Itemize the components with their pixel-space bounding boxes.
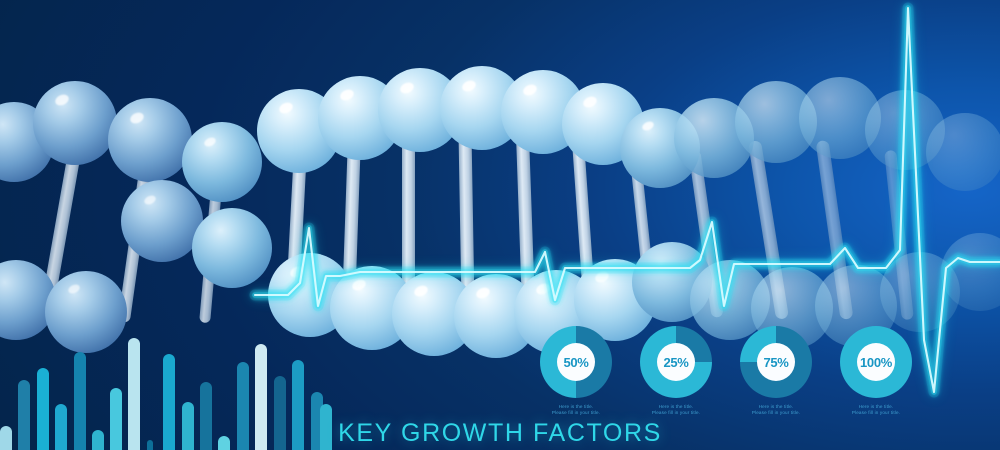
infographic-canvas: 50%Here is the title. Please fill in you… [0, 0, 1000, 450]
donut-hole: 100% [857, 343, 895, 381]
donut-value: 75% [763, 356, 788, 369]
donut-chart: 25% [640, 326, 712, 398]
kpi-caption: Here is the title. Please fill in your t… [730, 404, 822, 416]
donut-value: 100% [860, 356, 892, 369]
donut-value: 50% [563, 356, 588, 369]
kpi-caption: Here is the title. Please fill in your t… [530, 404, 622, 416]
kpi-card-50[interactable]: 50%Here is the title. Please fill in you… [530, 326, 622, 416]
donut-chart: 100% [840, 326, 912, 398]
kpi-caption: Here is the title. Please fill in your t… [830, 404, 922, 416]
donut-chart: 50% [540, 326, 612, 398]
donut-value: 25% [663, 356, 688, 369]
kpi-caption: Here is the title. Please fill in your t… [630, 404, 722, 416]
donut-hole: 50% [557, 343, 595, 381]
section-title: KEY GROWTH FACTORS [0, 419, 1000, 448]
kpi-card-100[interactable]: 100%Here is the title. Please fill in yo… [830, 326, 922, 416]
donut-hole: 25% [657, 343, 695, 381]
kpi-card-25[interactable]: 25%Here is the title. Please fill in you… [630, 326, 722, 416]
donut-hole: 75% [757, 343, 795, 381]
donut-chart: 75% [740, 326, 812, 398]
kpi-card-75[interactable]: 75%Here is the title. Please fill in you… [730, 326, 822, 416]
